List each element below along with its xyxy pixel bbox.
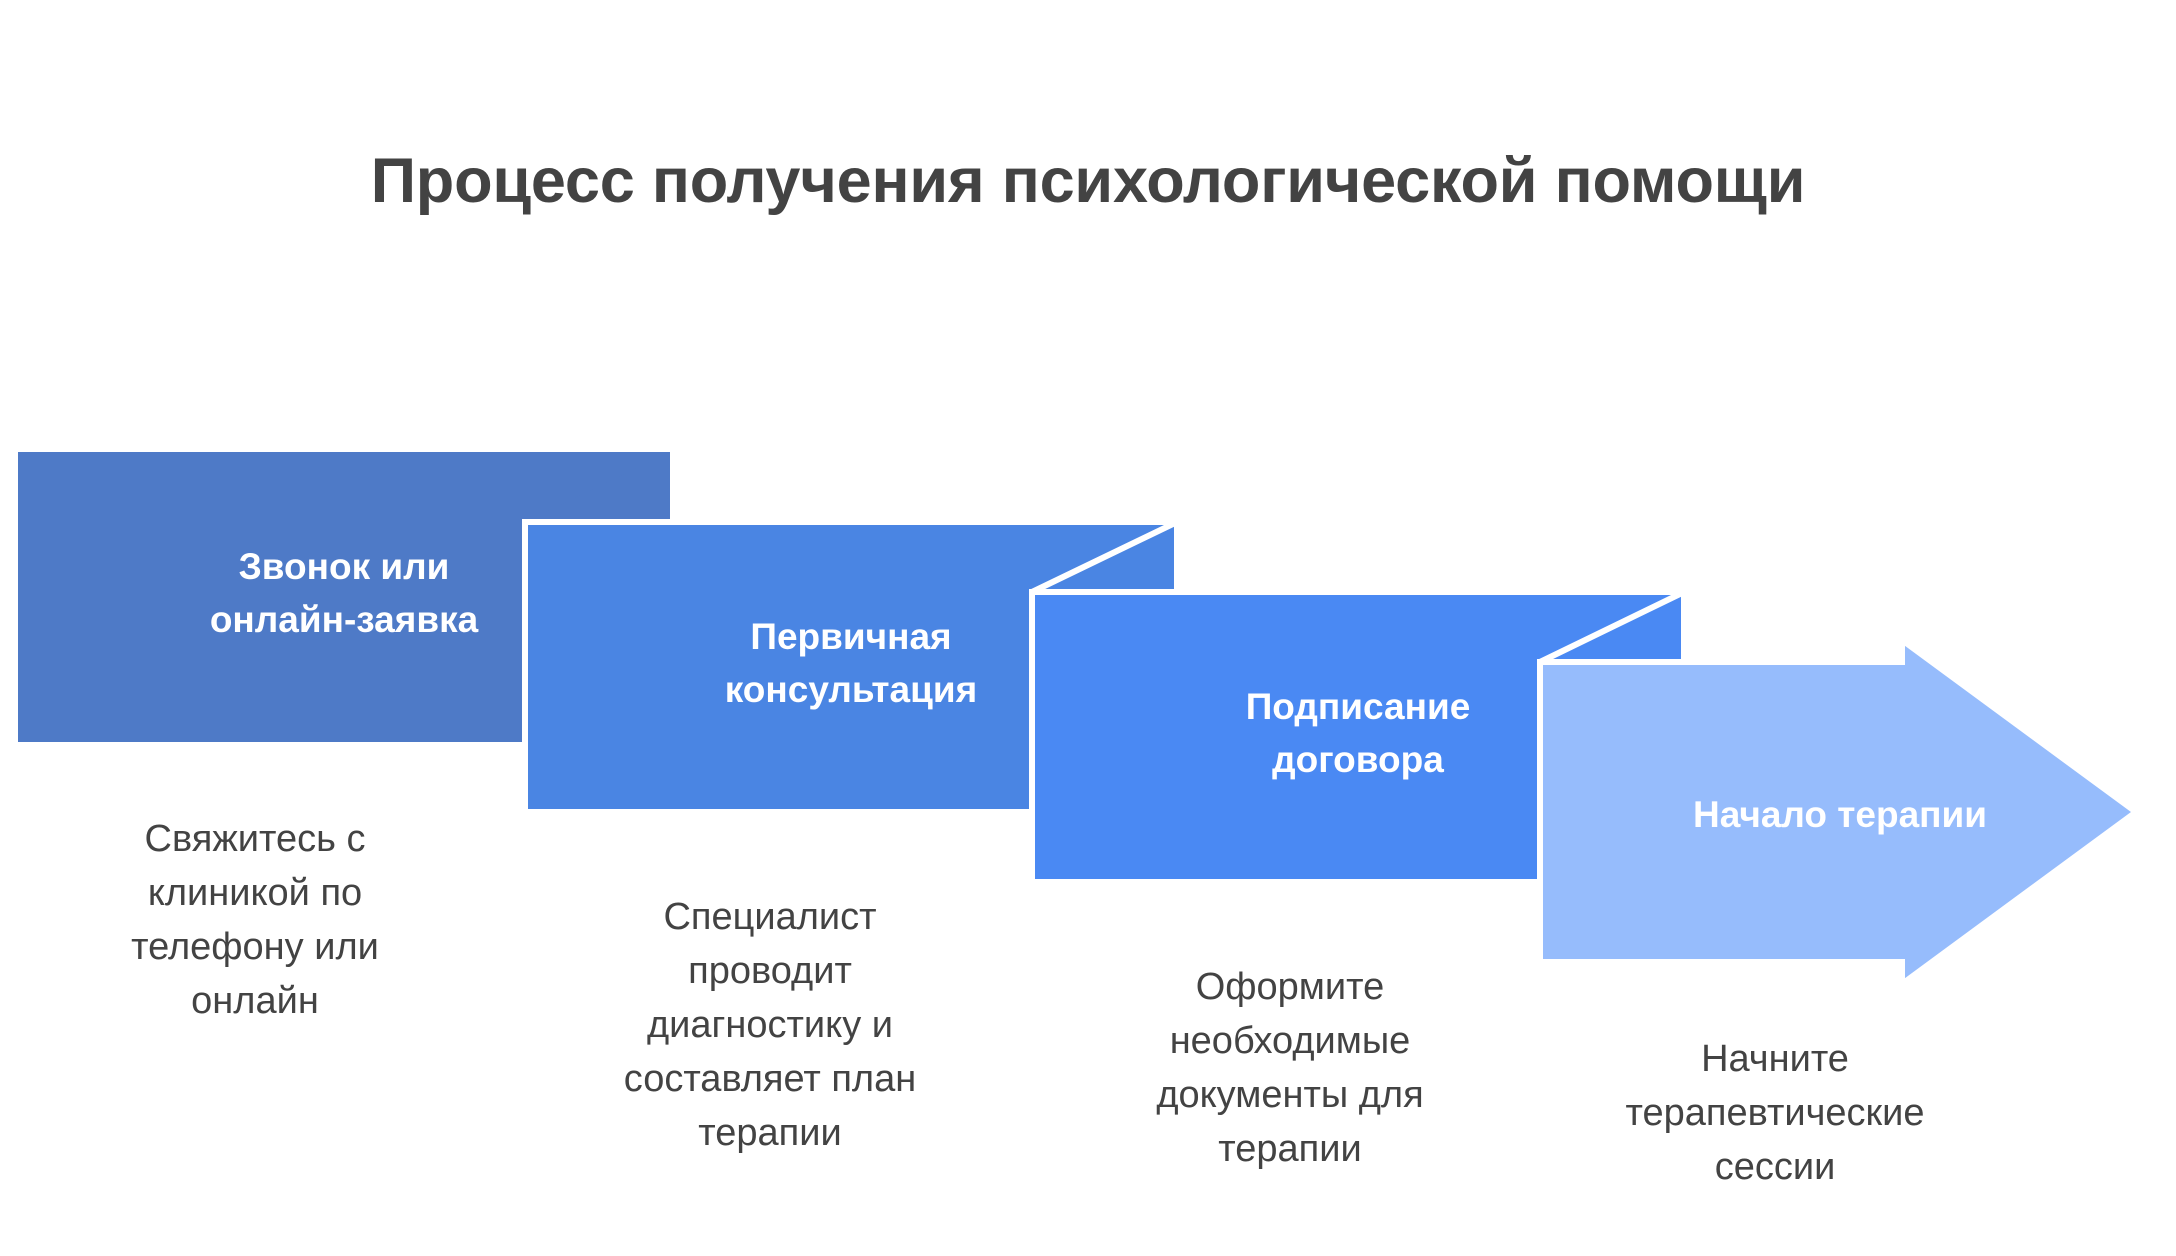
step-4-label: Начало терапии bbox=[1540, 788, 2140, 841]
step-4-caption: Начните терапевтические сессии bbox=[1570, 1032, 1980, 1194]
process-diagram: Звонок или онлайн-заявка Первичная консу… bbox=[0, 0, 2176, 1256]
step-1-caption: Свяжитесь с клиникой по телефону или онл… bbox=[50, 812, 460, 1028]
step-3-label: Подписание договора bbox=[1032, 680, 1684, 786]
slide-canvas: Процесс получения психологической помощи bbox=[0, 0, 2176, 1256]
step-2-caption: Специалист проводит диагностику и состав… bbox=[570, 890, 970, 1160]
step-3-caption: Оформите необходимые документы для терап… bbox=[1090, 960, 1490, 1176]
